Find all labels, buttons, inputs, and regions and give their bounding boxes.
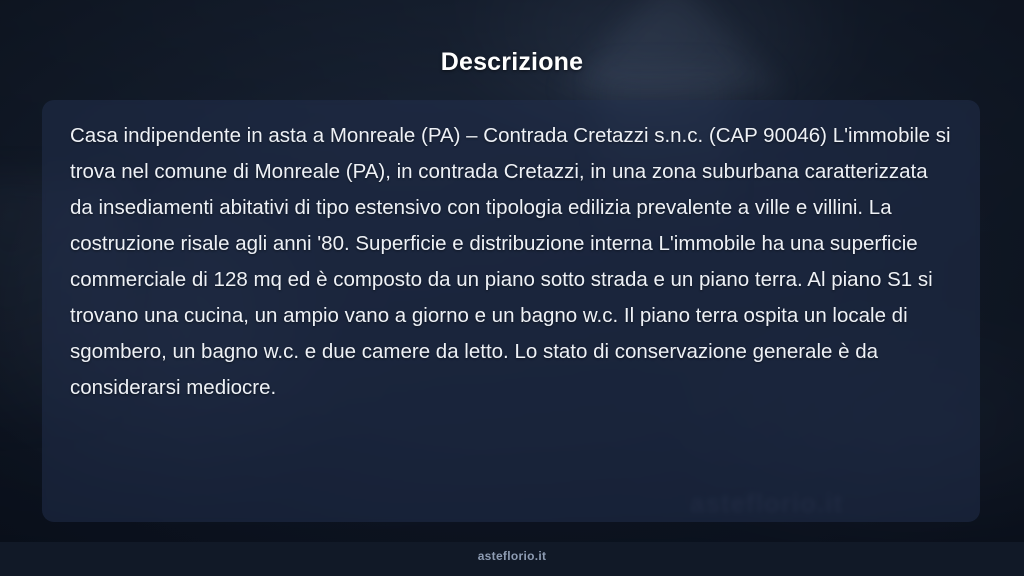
description-slide: asteflorio.it Descrizione Casa indipende… xyxy=(0,0,1024,576)
page-title: Descrizione xyxy=(0,48,1024,77)
footer-site-label: asteflorio.it xyxy=(0,549,1024,563)
description-body-text: Casa indipendente in asta a Monreale (PA… xyxy=(70,118,952,406)
description-panel: Casa indipendente in asta a Monreale (PA… xyxy=(42,100,980,522)
